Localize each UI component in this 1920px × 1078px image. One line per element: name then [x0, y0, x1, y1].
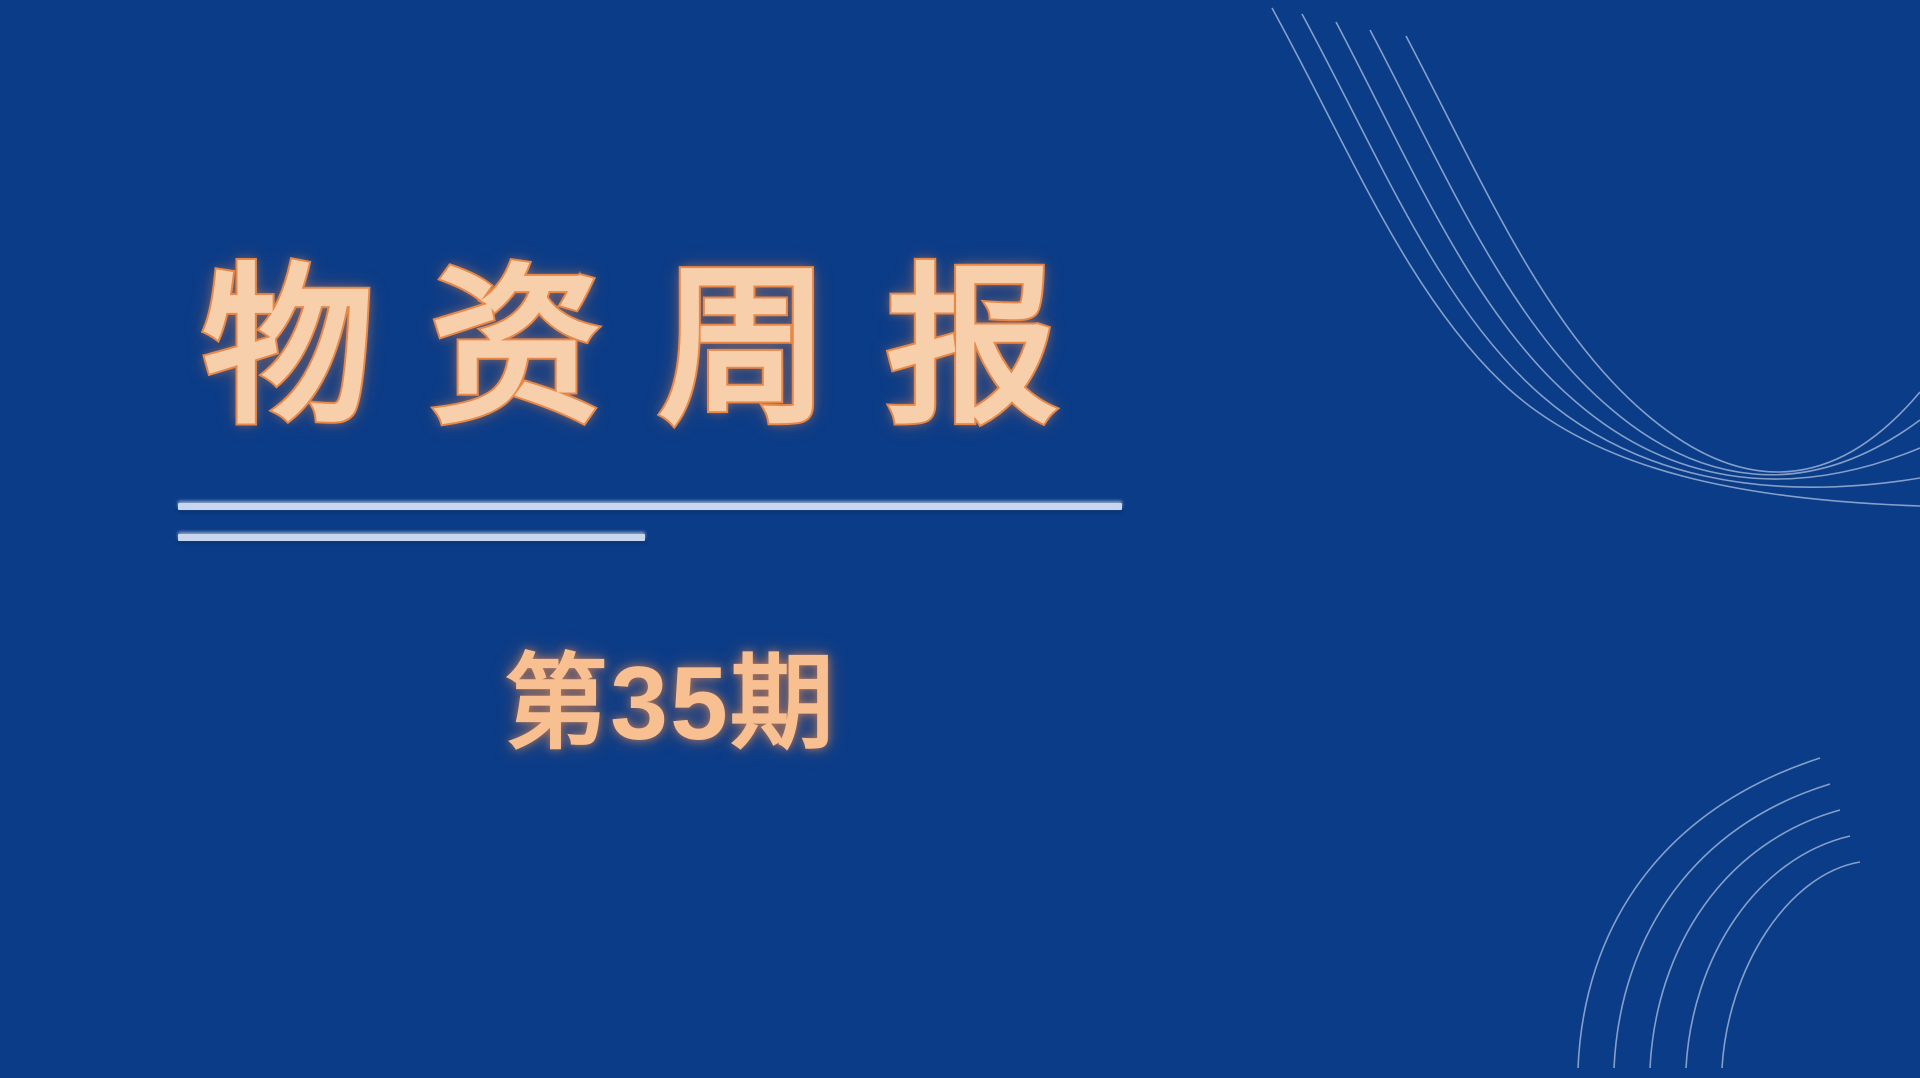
title-divider-lower	[178, 534, 645, 541]
divider-group	[178, 503, 1122, 541]
arc-line-4	[1686, 836, 1850, 1068]
wave-line-4	[1370, 30, 1920, 475]
arc-line-3	[1650, 810, 1840, 1068]
top-right-wave-decoration	[1260, 0, 1920, 540]
title-divider-upper	[178, 503, 1122, 510]
issue-subtitle: 第35期	[178, 645, 1162, 765]
wave-line-5	[1406, 36, 1920, 472]
title-block: 物资周报	[178, 262, 1278, 434]
wave-lines-svg	[1260, 0, 1920, 540]
arc-line-2	[1614, 784, 1830, 1068]
wave-line-2	[1302, 14, 1920, 487]
arc-line-5	[1722, 862, 1860, 1068]
bottom-right-arc-decoration	[1260, 598, 1920, 1078]
wave-line-1	[1272, 8, 1920, 506]
arc-line-1	[1578, 758, 1820, 1068]
cover-slide: 物资周报 第35期	[0, 0, 1920, 1078]
page-title: 物资周报	[178, 262, 1278, 434]
arc-lines-svg	[1260, 598, 1920, 1078]
wave-line-3	[1336, 22, 1920, 479]
